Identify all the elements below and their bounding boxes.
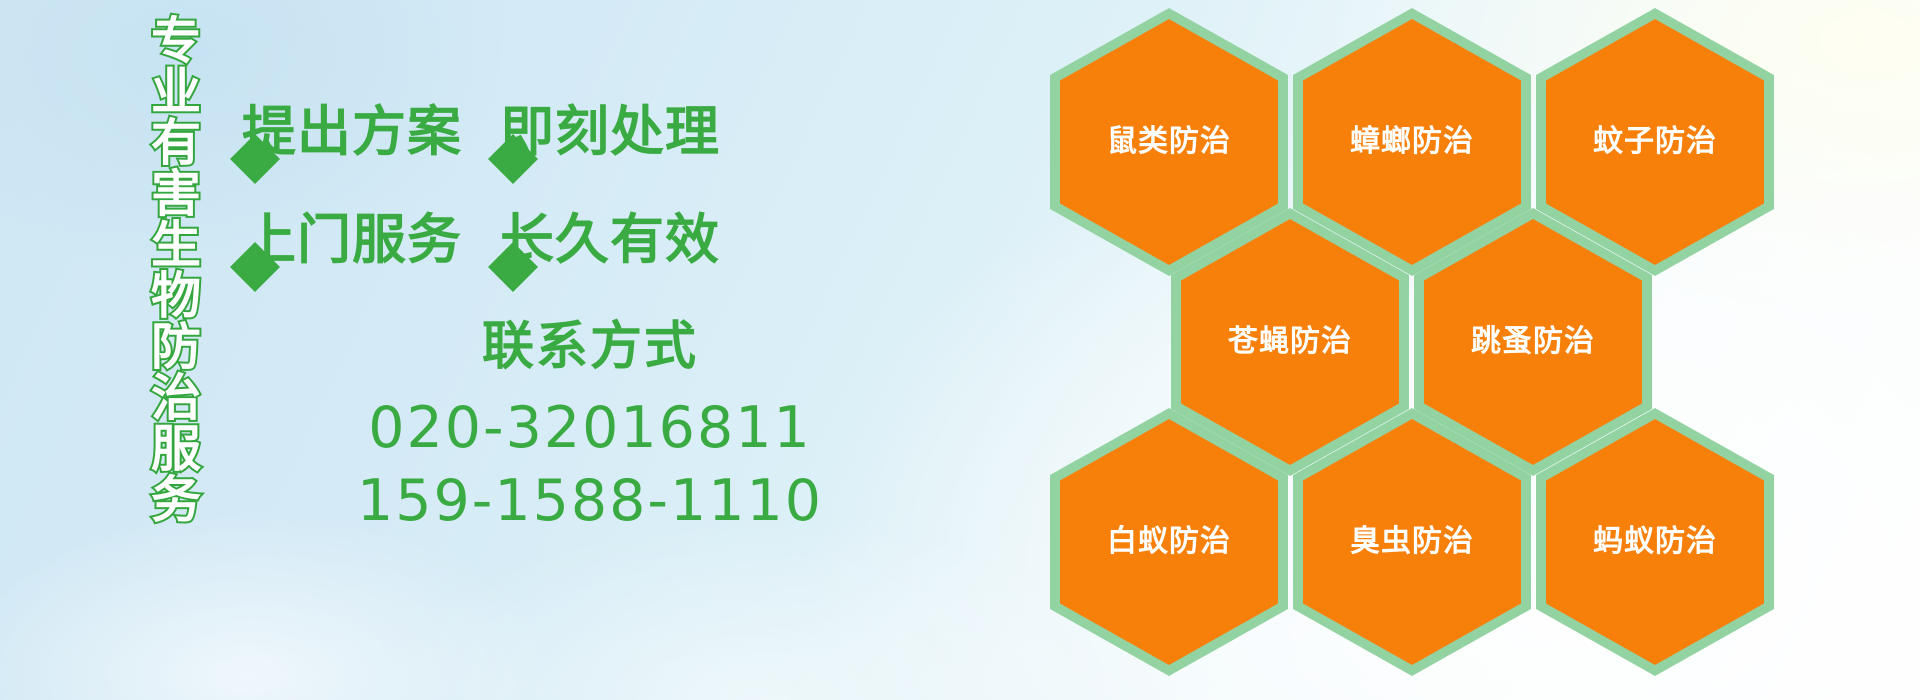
hex-inner: 跳蚤防治 [1424, 219, 1642, 465]
service-honeycomb: 鼠类防治 蟑螂防治 蚊子防治 苍蝇防治 跳蚤防治 白蚁防治 [1040, 0, 1840, 700]
feature-item: 即刻处理 [486, 105, 720, 159]
hex-inner: 臭虫防治 [1303, 419, 1521, 665]
service-label: 鼠类防治 [1107, 127, 1231, 157]
feature-label: 提出方案 [242, 105, 462, 159]
feature-row: 上门服务 长久有效 [228, 186, 878, 294]
service-label: 跳蚤防治 [1471, 327, 1595, 357]
vertical-headline: 专业有害生物防治服务 [106, 14, 198, 524]
hex-inner: 苍蝇防治 [1181, 219, 1399, 465]
feature-item: 长久有效 [486, 213, 720, 267]
phone-number-landline[interactable]: 020-32016811 [300, 392, 880, 465]
hex-inner: 蚊子防治 [1546, 19, 1764, 265]
service-label: 蟑螂防治 [1350, 127, 1474, 157]
feature-label: 上门服务 [242, 213, 462, 267]
hex-inner: 鼠类防治 [1060, 19, 1278, 265]
contact-block: 联系方式 020-32016811 159-1588-1110 [300, 318, 880, 538]
promo-banner: 专业有害生物防治服务 提出方案 即刻处理 [0, 0, 1920, 700]
feature-row: 提出方案 即刻处理 [228, 78, 878, 186]
feature-item: 上门服务 [228, 213, 462, 267]
hex-inner: 蟑螂防治 [1303, 19, 1521, 265]
service-label: 苍蝇防治 [1228, 327, 1352, 357]
service-label: 臭虫防治 [1350, 527, 1474, 557]
service-label: 蚂蚁防治 [1593, 527, 1717, 557]
service-label: 白蚁防治 [1107, 527, 1231, 557]
feature-list: 提出方案 即刻处理 上门服务 [228, 78, 878, 294]
feature-label: 即刻处理 [500, 105, 720, 159]
service-label: 蚊子防治 [1593, 127, 1717, 157]
contact-title: 联系方式 [300, 318, 880, 378]
hex-inner: 白蚁防治 [1060, 419, 1278, 665]
background-wash-bottom-mid [380, 520, 1140, 700]
background-wash-bottom-left [0, 510, 560, 700]
feature-label: 长久有效 [500, 213, 720, 267]
hex-inner: 蚂蚁防治 [1546, 419, 1764, 665]
phone-number-mobile[interactable]: 159-1588-1110 [300, 465, 880, 538]
feature-item: 提出方案 [228, 105, 462, 159]
